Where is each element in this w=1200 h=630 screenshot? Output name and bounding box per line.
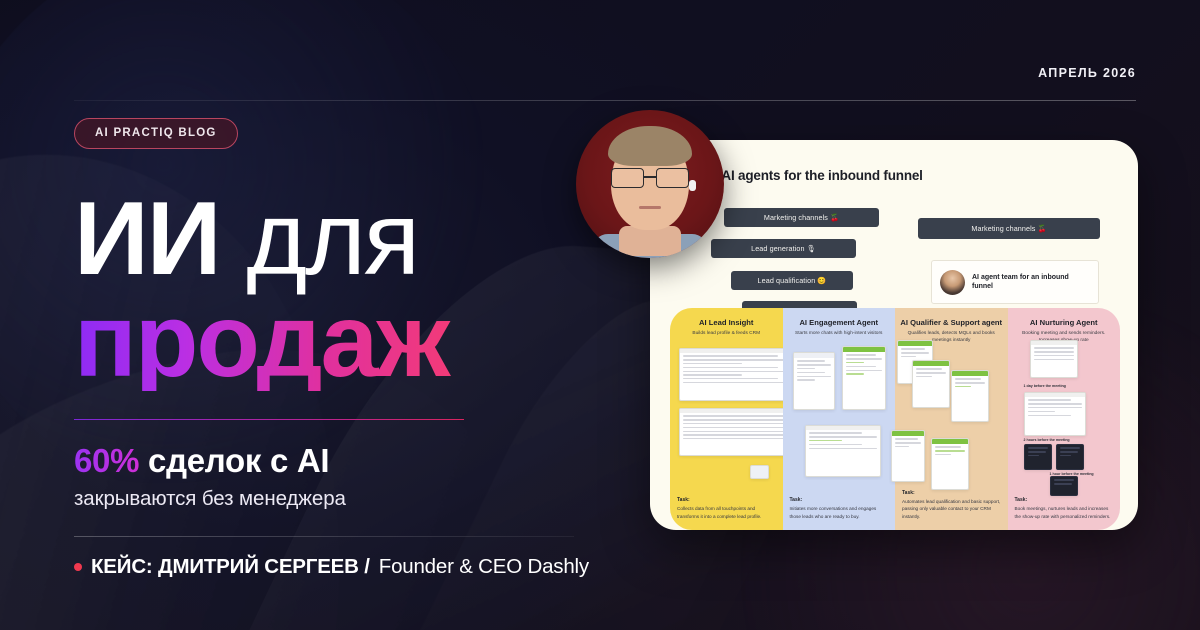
column-title: AI Nurturing Agent bbox=[1008, 318, 1121, 327]
avatar-face bbox=[598, 124, 702, 256]
mock-qualify-chat-4 bbox=[891, 430, 925, 482]
column-task: Task: Initiates more conversations and e… bbox=[790, 497, 889, 520]
column-task: Task: Collects data from all touchpoints… bbox=[677, 497, 776, 520]
gradient-divider bbox=[74, 419, 464, 421]
ai-agent-team-card[interactable]: AI agent team for an inbound funnel bbox=[931, 260, 1099, 304]
board-title: n: AI agents for the inbound funnel bbox=[706, 168, 1124, 183]
board-columns: AI Lead Insight Builds lead profile & fe… bbox=[670, 308, 1120, 530]
left-content: AI PRACTIQ BLOG ИИ для продаж 60% сделок… bbox=[74, 118, 594, 579]
stat-line: 60% сделок с AI bbox=[74, 442, 594, 480]
column-title: AI Qualifier & Support agent bbox=[895, 318, 1008, 327]
column-subtitle: Builds lead profile & feeds CRM bbox=[676, 330, 777, 337]
mock-qualify-chat-5 bbox=[931, 438, 969, 490]
task-text: Collects data from all touchpoints and t… bbox=[677, 505, 776, 520]
mock-dark-message-1 bbox=[1024, 444, 1052, 470]
mock-qualify-chat-3 bbox=[951, 370, 989, 422]
case-credit: КЕЙС: ДМИТРИЙ СЕРГЕЕВ / Founder & CEO Da… bbox=[74, 555, 594, 579]
stat-subtitle: закрываются без менеджера bbox=[74, 487, 594, 511]
screenshot-panel[interactable]: n: AI agents for the inbound funnel Mark… bbox=[650, 140, 1138, 530]
avatar-hair bbox=[608, 126, 692, 166]
date-label: АПРЕЛЬ 2026 bbox=[1038, 66, 1136, 80]
avatar-earbud bbox=[689, 180, 696, 191]
board-column-nurturing-agent[interactable]: AI Nurturing Agent Booking meeting and s… bbox=[1008, 308, 1121, 530]
task-label: Task: bbox=[677, 497, 776, 503]
task-label: Task: bbox=[790, 497, 889, 503]
headline-line-2: продаж bbox=[74, 292, 594, 391]
column-task: Task: Automates lead qualification and b… bbox=[902, 490, 1001, 520]
team-card-text: AI agent team for an inbound funnel bbox=[972, 273, 1090, 292]
task-label: Task: bbox=[1015, 497, 1114, 503]
mock-chat-form bbox=[805, 425, 881, 477]
mock-email-reminder bbox=[1024, 392, 1086, 436]
avatar-neck bbox=[619, 226, 681, 256]
task-text: Book meetings, nurtures leads and increa… bbox=[1015, 505, 1114, 520]
headline-dlya: для bbox=[246, 181, 418, 297]
nurture-label-1: 1 day before the meeting bbox=[1024, 384, 1066, 388]
mock-calendar bbox=[1030, 340, 1078, 378]
column-subtitle: Starts more chats with high-intent visit… bbox=[789, 330, 890, 337]
nurture-label-2: 2 hours before the meeting bbox=[1024, 438, 1070, 442]
column-title: AI Engagement Agent bbox=[783, 318, 896, 327]
board-chip-lead-qualification[interactable]: Lead qualification 😊 bbox=[731, 271, 853, 290]
task-text: Initiates more conversations and engages… bbox=[790, 505, 889, 520]
board-column-engagement-agent[interactable]: AI Engagement Agent Starts more chats wi… bbox=[783, 308, 896, 530]
board-chip-marketing-channels[interactable]: Marketing channels 🍒 bbox=[724, 208, 879, 227]
stat-rest: сделок с AI bbox=[148, 442, 329, 479]
mock-crm-badge-icon bbox=[750, 465, 769, 479]
blog-badge[interactable]: AI PRACTIQ BLOG bbox=[74, 118, 238, 149]
board-chip-lead-generation[interactable]: Lead generation 🎙 bbox=[711, 239, 856, 258]
headline-line-1: ИИ для bbox=[74, 191, 594, 288]
case-divider bbox=[74, 536, 574, 537]
headline-ii: ИИ bbox=[74, 181, 220, 297]
avatar-glasses-icon bbox=[610, 168, 690, 188]
header-divider bbox=[74, 100, 1136, 101]
task-text: Automates lead qualification and basic s… bbox=[902, 498, 1001, 520]
mock-dark-message-2 bbox=[1056, 444, 1084, 470]
team-avatar bbox=[940, 270, 965, 295]
mock-qualify-chat-2 bbox=[912, 360, 950, 408]
column-task: Task: Book meetings, nurtures leads and … bbox=[1015, 497, 1114, 520]
column-title: AI Lead Insight bbox=[670, 318, 783, 327]
task-label: Task: bbox=[902, 490, 1001, 496]
avatar-mouth bbox=[639, 206, 661, 209]
board-chip-marketing-channels-right[interactable]: Marketing channels 🍒 bbox=[918, 218, 1100, 239]
mock-chat-conversation bbox=[842, 346, 886, 410]
bullet-dot-icon bbox=[74, 563, 82, 571]
avatar bbox=[576, 110, 724, 258]
case-name: КЕЙС: ДМИТРИЙ СЕРГЕЕВ / bbox=[91, 555, 370, 579]
stat-percent: 60% bbox=[74, 442, 139, 479]
mock-chat-widget bbox=[793, 352, 835, 410]
board-column-lead-insight[interactable]: AI Lead Insight Builds lead profile & fe… bbox=[670, 308, 783, 530]
mock-dark-message-3 bbox=[1050, 476, 1078, 496]
case-role: Founder & CEO Dashly bbox=[379, 555, 589, 579]
board-column-qualifier-support[interactable]: AI Qualifier & Support agent Qualifies l… bbox=[895, 308, 1008, 530]
